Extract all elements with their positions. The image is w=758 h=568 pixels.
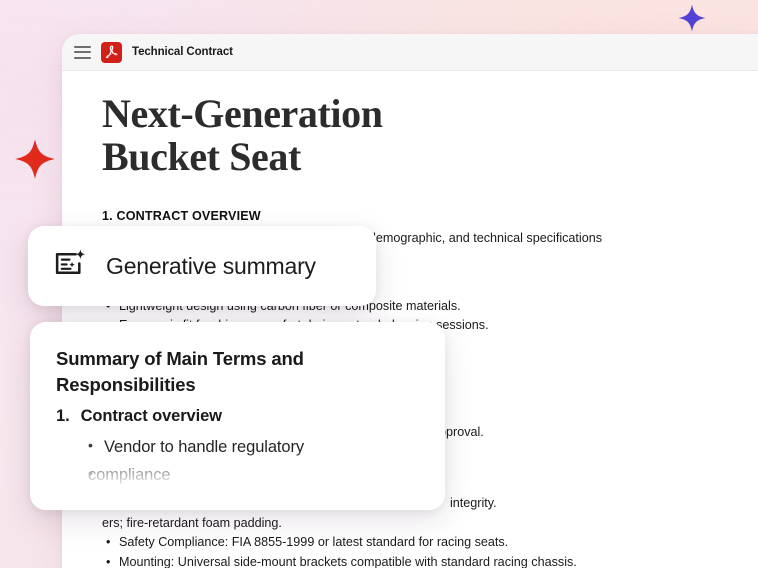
- summary-sub-bullet: Vendor to handle regulatory: [56, 433, 419, 461]
- document-title: Technical Contract: [132, 46, 233, 58]
- page-title: Next-Generation Bucket Seat: [102, 93, 752, 179]
- page-title-line-2: Bucket Seat: [102, 136, 752, 179]
- summary-list: 1. Contract overview Vendor to handle re…: [56, 407, 419, 490]
- generative-summary-chip[interactable]: Generative summary: [28, 226, 376, 306]
- summary-sub-bullet-text: Vendor to handle regulatory: [104, 438, 304, 456]
- summary-item-number: 1.: [56, 407, 70, 426]
- page-title-line-1: Next-Generation: [102, 93, 752, 136]
- pdf-icon: [101, 42, 122, 63]
- sparkle-purple-icon: [678, 4, 706, 32]
- list-item: Mounting: Universal side-mount brackets …: [102, 553, 752, 568]
- hamburger-icon[interactable]: [74, 46, 91, 59]
- summary-sub-bullet-continued-text: compliance: [88, 466, 170, 484]
- document-toolbar: Technical Contract: [62, 34, 758, 71]
- summary-sub-bullet-continued: compliance: [56, 461, 419, 489]
- summary-panel: Summary of Main Terms and Responsibiliti…: [30, 322, 445, 510]
- summary-list-item: 1. Contract overview Vendor to handle re…: [56, 407, 419, 490]
- generative-summary-icon: [54, 248, 87, 284]
- sparkle-red-icon: [14, 138, 56, 180]
- generative-summary-label: Generative summary: [106, 253, 316, 280]
- summary-title: Summary of Main Terms and Responsibiliti…: [56, 346, 419, 397]
- list-item: Safety Compliance: FIA 8855-1999 or late…: [102, 533, 752, 552]
- list-item: ers; fire-retardant foam padding.: [102, 514, 752, 533]
- summary-item-title: Contract overview: [81, 407, 222, 426]
- section-heading: 1. CONTRACT OVERVIEW: [102, 209, 752, 223]
